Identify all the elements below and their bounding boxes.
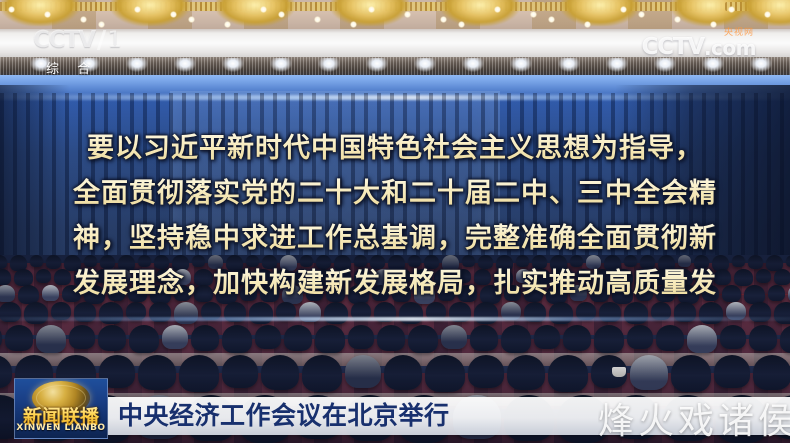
ceiling-spot-light xyxy=(44,11,51,18)
ceiling-spot-light xyxy=(224,21,231,28)
ceiling-spot-light xyxy=(530,11,537,18)
ceiling-spot-light xyxy=(728,6,735,13)
cctv-wordmark: CCTV xyxy=(33,27,95,53)
chandelier-icon xyxy=(111,0,189,26)
ceiling-spot-light xyxy=(458,21,465,28)
ceiling-spot-light xyxy=(260,6,267,13)
subtitle-line-4: 发展理念，加快构建新发展格局，扎实推动高质量发 xyxy=(0,261,790,306)
subtitle-line-3: 神，坚持稳中求进工作总基调，完整准确全面贯彻新 xyxy=(0,216,790,261)
downlight xyxy=(366,58,388,72)
subtitle-line-2: 全面贯彻落实党的二十大和二十届二中、三中全会精 xyxy=(0,171,790,216)
ceiling-spot-light xyxy=(80,16,87,23)
ceiling-spot-light xyxy=(278,11,285,18)
headline-text: 中央经济工作会议在北京举行 xyxy=(118,400,450,432)
subtitle-overlay: 要以习近平新时代中国特色社会主义思想为指导， 全面贯彻落实党的二十大和二十届二中… xyxy=(0,126,790,306)
ceiling-spot-light xyxy=(404,11,411,18)
downlight xyxy=(654,58,676,72)
downlight xyxy=(510,58,532,72)
downlight xyxy=(126,58,148,72)
downlight xyxy=(606,58,628,72)
ceiling-spot-light xyxy=(620,6,627,13)
cctv-channel-logo: CCTV 1 xyxy=(33,27,120,53)
ceiling-spot-light xyxy=(440,16,447,23)
ceiling-spot-light xyxy=(764,11,771,18)
broadcast-frame: CCTV 1 综 合 央视网 CCTV .com 要以习近平新时代中国特色社会主… xyxy=(0,0,790,443)
ceiling-spot-light xyxy=(674,16,681,23)
chandelier-icon xyxy=(441,0,519,26)
ceiling-spot-light xyxy=(638,11,645,18)
logo-slash-icon xyxy=(96,30,105,50)
downlight xyxy=(270,58,292,72)
ceiling-spot-light xyxy=(188,16,195,23)
program-badge: 新闻联播 XINWEN LIANBO xyxy=(14,378,108,439)
ceiling-spot-light xyxy=(350,21,357,28)
chandelier-icon xyxy=(331,0,409,26)
ceiling-spot-light xyxy=(314,16,321,23)
downlight xyxy=(750,58,772,72)
ceiling-spot-light xyxy=(494,6,501,13)
ceiling-spot-light xyxy=(710,21,717,28)
cctvcom-brand: CCTV xyxy=(642,34,704,60)
uploader-watermark: 烽火戏诸侯 xyxy=(598,392,790,443)
downlight xyxy=(222,58,244,72)
chandelier-icon xyxy=(1,0,79,26)
channel-subtitle: 综 合 xyxy=(46,58,97,77)
downlight xyxy=(702,58,724,72)
ceiling-spot-light xyxy=(368,6,375,13)
downlight xyxy=(174,58,196,72)
downlight-strip xyxy=(0,57,790,77)
ceiling-spot-light xyxy=(134,6,141,13)
program-name-en: XINWEN LIANBO xyxy=(15,423,107,433)
channel-number: 1 xyxy=(108,28,121,53)
ceiling-spot-light xyxy=(170,11,177,18)
downlight xyxy=(318,58,340,72)
ceiling-spot-light xyxy=(584,21,591,28)
cctvcom-domain: .com xyxy=(704,36,756,60)
downlight xyxy=(462,58,484,72)
downlight xyxy=(558,58,580,72)
subtitle-line-1: 要以习近平新时代中国特色社会主义思想为指导， xyxy=(0,126,790,171)
cctv-website-watermark: CCTV .com xyxy=(642,34,757,60)
chandelier-icon xyxy=(561,0,639,26)
downlight xyxy=(414,58,436,72)
ceiling-spot-light xyxy=(548,16,555,23)
ceiling-spot-light xyxy=(8,6,15,13)
